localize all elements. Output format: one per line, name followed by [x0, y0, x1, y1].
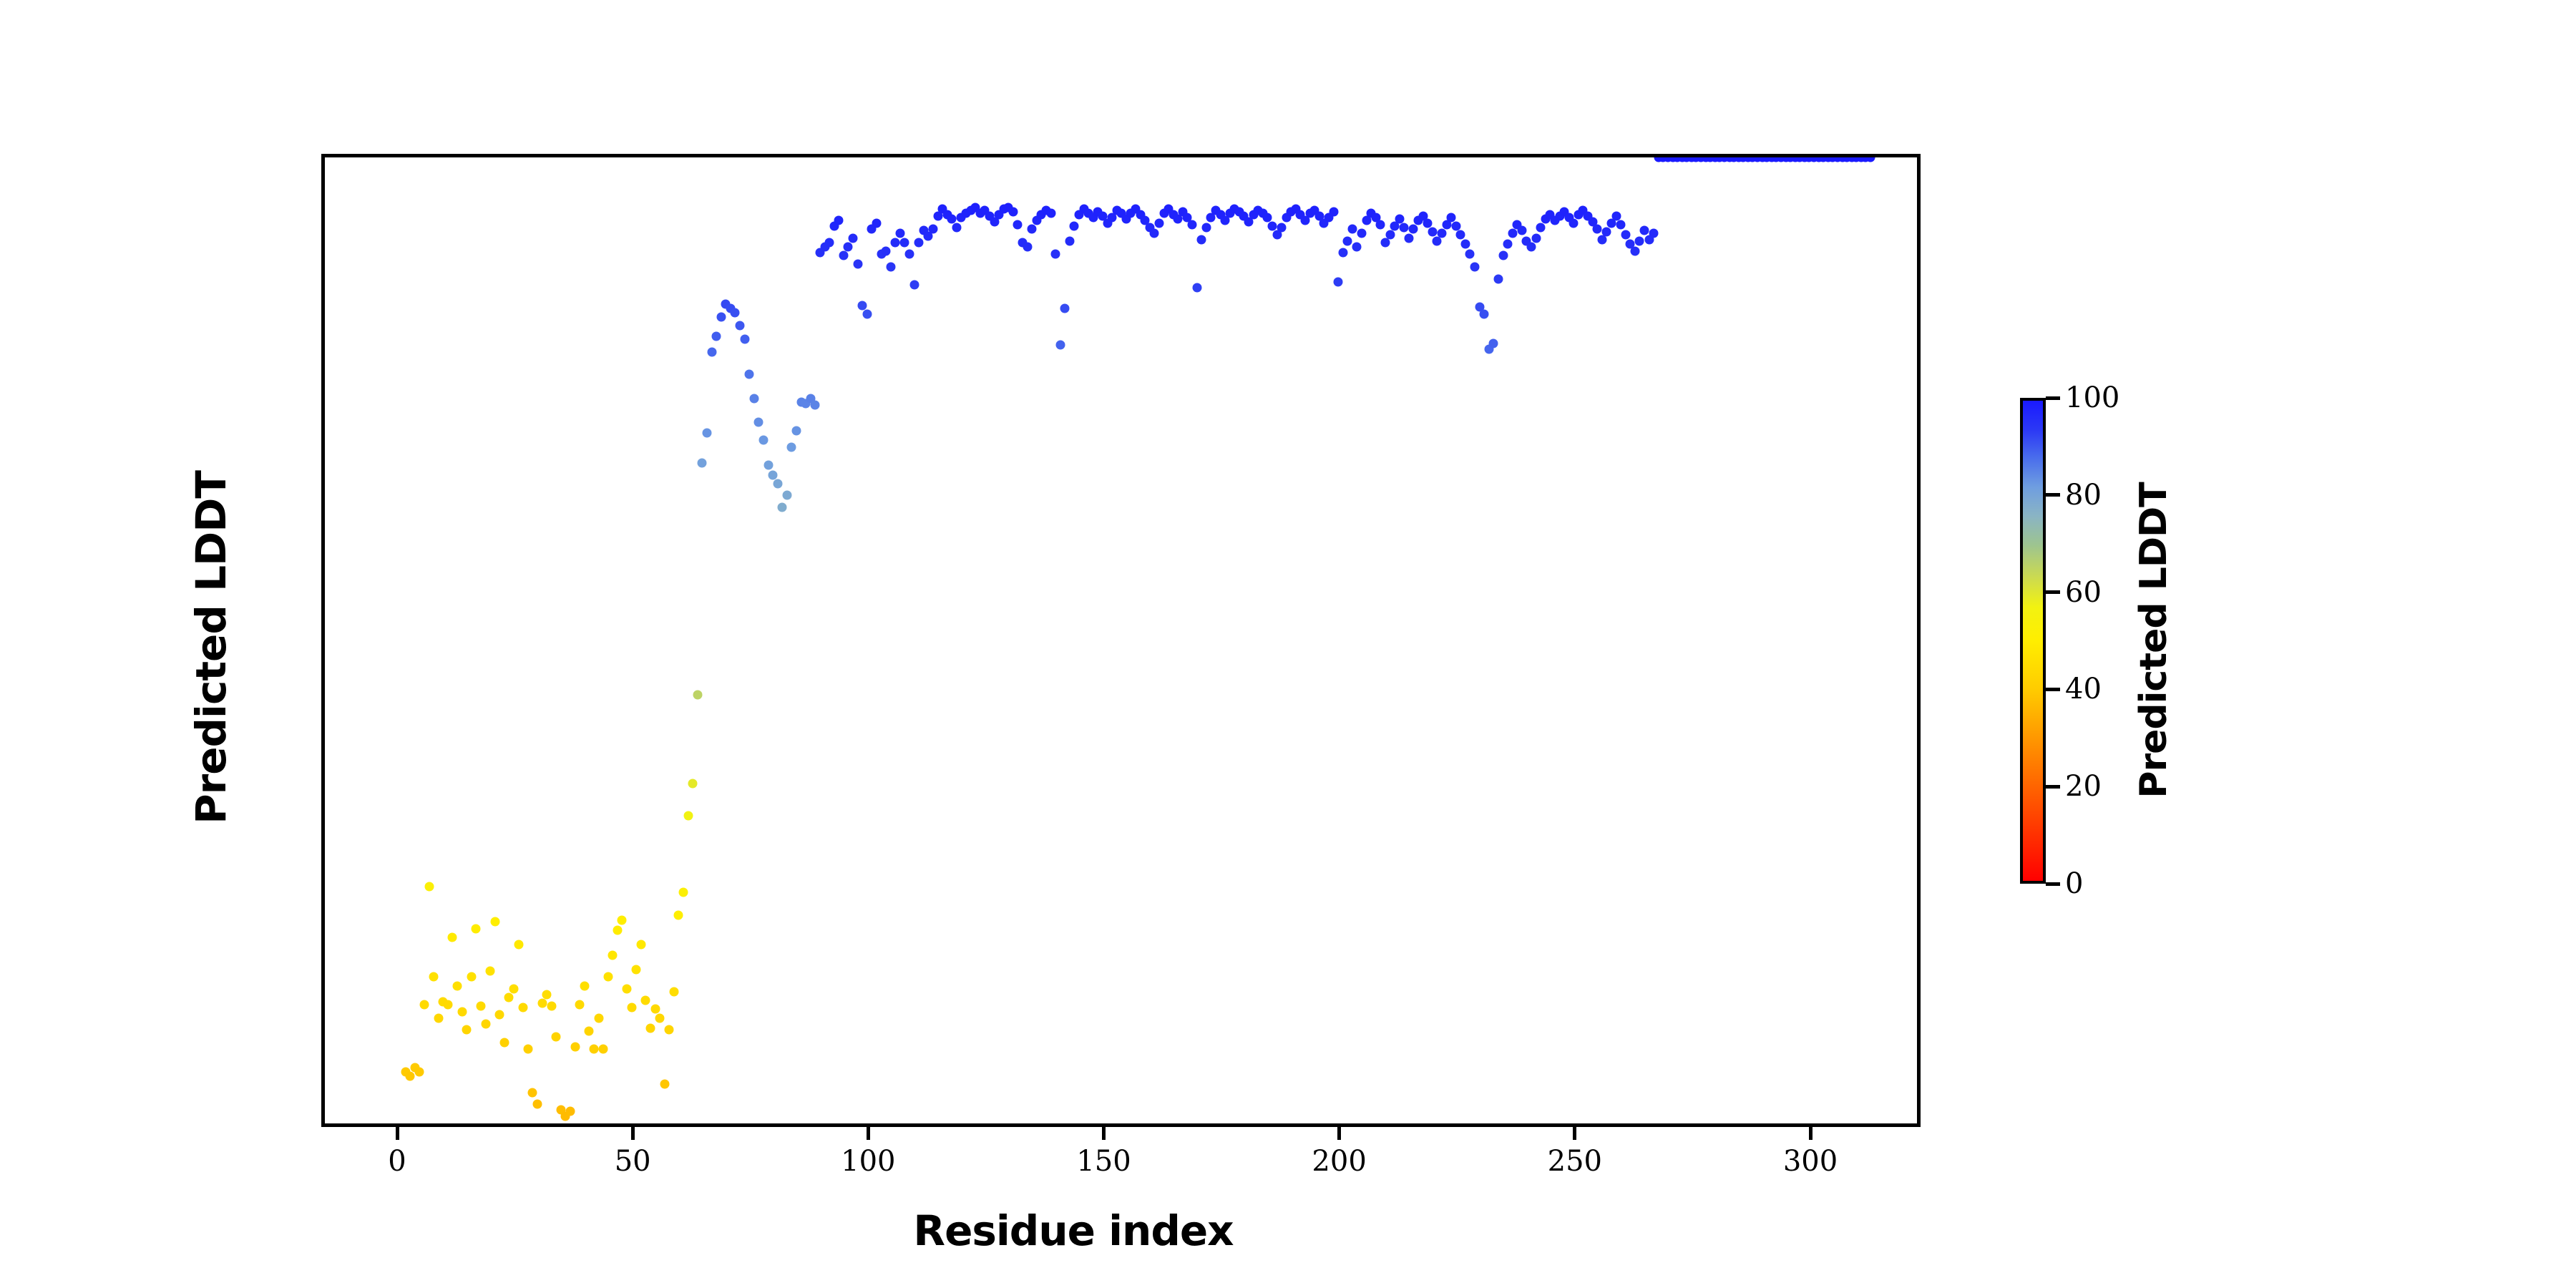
data-point — [453, 981, 462, 990]
data-point — [1531, 233, 1541, 243]
colorbar-tick-label: 0 — [2065, 867, 2083, 900]
data-point — [1055, 340, 1065, 349]
data-point — [603, 972, 613, 982]
data-point — [886, 263, 895, 272]
data-point — [909, 280, 919, 289]
data-point — [844, 242, 853, 251]
data-point — [448, 933, 457, 942]
data-point — [599, 1044, 608, 1053]
colorbar-gradient — [2020, 398, 2046, 884]
data-point — [519, 1003, 528, 1013]
data-point — [1437, 229, 1446, 238]
data-point — [1470, 263, 1480, 272]
data-point — [905, 250, 914, 259]
data-point — [641, 996, 650, 1005]
data-point — [1188, 220, 1197, 230]
data-point — [849, 233, 858, 243]
data-point — [1635, 236, 1644, 245]
data-point — [1649, 229, 1659, 238]
data-point — [688, 779, 698, 789]
data-point — [1046, 208, 1055, 218]
data-point — [406, 1072, 415, 1081]
data-point — [1451, 222, 1460, 231]
x-tick-mark — [396, 1127, 399, 1140]
data-point — [1154, 219, 1163, 228]
data-point — [1498, 251, 1508, 260]
data-point — [608, 950, 618, 960]
data-point — [457, 1008, 467, 1017]
data-point — [1536, 223, 1546, 233]
data-point — [499, 1038, 509, 1048]
data-point — [749, 394, 758, 404]
data-point — [900, 238, 909, 247]
data-point — [636, 940, 645, 950]
data-point — [532, 1100, 542, 1109]
data-point — [769, 470, 778, 479]
data-point — [547, 1002, 556, 1011]
data-point — [712, 331, 721, 341]
data-point — [1051, 250, 1060, 259]
data-point — [627, 1003, 636, 1013]
x-tick-label: 150 — [1076, 1145, 1131, 1178]
data-point — [707, 348, 716, 357]
data-point — [1527, 242, 1536, 251]
data-point — [1023, 242, 1032, 251]
colorbar-tick-mark — [2046, 590, 2060, 594]
data-point — [1465, 250, 1475, 259]
data-point — [462, 1025, 472, 1034]
data-point — [1489, 338, 1498, 348]
data-point — [1267, 222, 1277, 231]
data-point — [486, 967, 495, 976]
data-point — [660, 1079, 669, 1088]
x-tick-label: 100 — [841, 1145, 895, 1178]
data-point — [504, 992, 514, 1002]
data-point — [585, 1026, 594, 1035]
data-point — [1060, 303, 1070, 313]
data-point — [509, 984, 519, 993]
data-point — [679, 887, 688, 897]
data-point — [537, 999, 547, 1008]
data-point — [778, 502, 787, 512]
data-point — [1460, 239, 1470, 248]
data-point — [415, 1068, 424, 1077]
x-tick-label: 0 — [388, 1145, 406, 1178]
data-point — [514, 940, 523, 950]
data-point — [1150, 229, 1159, 238]
x-tick-label: 50 — [615, 1145, 651, 1178]
colorbar-tick-label: 60 — [2065, 576, 2102, 609]
data-point — [914, 238, 924, 247]
data-point — [495, 1010, 504, 1020]
data-point — [1065, 236, 1074, 245]
colorbar-tick-mark — [2046, 493, 2060, 497]
data-point — [1423, 219, 1433, 228]
data-point — [650, 1005, 660, 1014]
data-point — [882, 246, 891, 255]
data-point — [792, 426, 801, 436]
x-tick-mark — [867, 1127, 870, 1140]
data-point — [736, 321, 745, 331]
x-tick-label: 300 — [1783, 1145, 1838, 1178]
colorbar-tick-mark — [2046, 785, 2060, 789]
data-point — [952, 223, 961, 233]
data-point — [1400, 223, 1409, 233]
x-tick-mark — [1573, 1127, 1576, 1140]
data-point — [1008, 207, 1018, 216]
data-point — [552, 1033, 561, 1042]
data-point — [1197, 235, 1206, 244]
data-point — [716, 312, 726, 321]
data-point — [1338, 248, 1347, 257]
data-point — [570, 1043, 580, 1052]
data-point — [1395, 214, 1404, 223]
x-tick-mark — [1102, 1127, 1106, 1140]
data-point — [424, 882, 434, 891]
data-point — [758, 435, 768, 444]
data-point — [523, 1044, 532, 1053]
data-point — [745, 369, 754, 379]
data-point — [1630, 246, 1639, 255]
data-point — [740, 334, 749, 343]
data-point — [1376, 220, 1385, 230]
data-point — [1013, 220, 1023, 230]
data-point — [1329, 207, 1338, 216]
data-point — [429, 972, 439, 982]
data-point — [575, 1000, 585, 1010]
data-point — [674, 911, 683, 920]
data-point — [1343, 236, 1352, 245]
colorbar-tick-label: 40 — [2065, 673, 2102, 706]
data-point — [655, 1013, 665, 1023]
data-point — [1357, 229, 1367, 238]
data-point — [1277, 223, 1287, 233]
data-point — [872, 219, 881, 228]
data-point — [787, 442, 796, 452]
data-point — [618, 915, 627, 924]
data-point — [862, 309, 872, 318]
data-point — [613, 925, 622, 935]
x-axis-label: Residue index — [0, 1206, 2147, 1255]
data-point — [476, 1002, 485, 1011]
data-point — [1334, 277, 1343, 286]
data-point — [566, 1107, 575, 1116]
data-point — [443, 1000, 452, 1010]
data-point — [1616, 220, 1626, 230]
data-point — [1201, 223, 1211, 233]
data-point — [1352, 242, 1362, 251]
data-point — [490, 917, 499, 926]
data-point — [698, 459, 707, 468]
x-tick-mark — [631, 1127, 635, 1140]
data-point — [1480, 309, 1489, 318]
data-point — [1070, 222, 1079, 231]
data-point — [645, 1023, 655, 1033]
y-axis-label: Predicted LDDT — [187, 471, 235, 824]
data-point — [1192, 283, 1201, 293]
x-tick-mark — [1337, 1127, 1341, 1140]
data-point — [839, 251, 848, 260]
data-point — [1593, 225, 1602, 234]
data-point — [1385, 230, 1395, 240]
data-point — [632, 965, 641, 975]
data-point — [858, 301, 867, 310]
x-tick-label: 200 — [1312, 1145, 1366, 1178]
data-point — [472, 924, 481, 933]
colorbar-tick-label: 20 — [2065, 770, 2102, 803]
data-point — [693, 690, 702, 699]
data-point — [580, 981, 589, 990]
data-point — [834, 215, 844, 225]
data-point — [594, 1013, 603, 1023]
data-point — [1456, 230, 1465, 240]
colorbar-tick-mark — [2046, 396, 2060, 400]
data-point — [754, 418, 763, 427]
data-point — [1493, 274, 1503, 283]
data-point — [1404, 233, 1413, 243]
data-point — [528, 1088, 537, 1097]
data-point — [947, 214, 957, 223]
data-point — [773, 479, 782, 489]
colorbar-tick-label: 100 — [2065, 381, 2119, 414]
data-point — [825, 238, 834, 247]
data-point — [1640, 226, 1649, 235]
data-point — [665, 1025, 674, 1034]
data-point — [1428, 228, 1437, 237]
data-point — [731, 308, 740, 317]
data-point — [1602, 228, 1611, 237]
colorbar-tick-mark — [2046, 688, 2060, 691]
data-point — [623, 984, 632, 993]
data-point — [669, 987, 678, 996]
data-point — [1611, 211, 1621, 220]
data-point — [853, 260, 862, 269]
data-point — [1621, 230, 1630, 240]
data-point — [1347, 225, 1357, 234]
colorbar-tick-label: 80 — [2065, 479, 2102, 512]
data-point — [928, 225, 937, 234]
data-point — [419, 1000, 429, 1010]
data-point — [434, 1013, 443, 1023]
colorbar-label: Predicted LDDT — [2132, 482, 2175, 798]
x-tick-mark — [1809, 1127, 1813, 1140]
data-point — [1447, 213, 1456, 222]
data-point — [811, 400, 820, 409]
data-point — [467, 972, 476, 982]
data-point — [1503, 239, 1513, 248]
data-point — [1508, 229, 1517, 238]
x-tick-label: 250 — [1548, 1145, 1602, 1178]
data-point — [891, 238, 900, 247]
data-point — [1263, 213, 1272, 222]
data-point — [589, 1044, 598, 1053]
data-point — [895, 229, 904, 238]
data-point — [683, 811, 693, 821]
plot-area — [321, 154, 1921, 1127]
data-point — [1028, 225, 1037, 234]
data-point — [1569, 219, 1579, 228]
data-point — [1409, 225, 1418, 234]
data-point — [763, 460, 773, 469]
data-point — [542, 990, 552, 999]
scatter-plot-figure: 405060708090100 050100150200250300 Resid… — [0, 0, 2576, 1288]
colorbar — [2020, 398, 2046, 884]
colorbar-tick-mark — [2046, 882, 2060, 886]
data-point — [782, 491, 791, 500]
data-point — [702, 428, 711, 437]
data-points-layer — [325, 157, 1917, 1123]
data-point — [481, 1019, 490, 1028]
data-point — [1517, 226, 1526, 235]
